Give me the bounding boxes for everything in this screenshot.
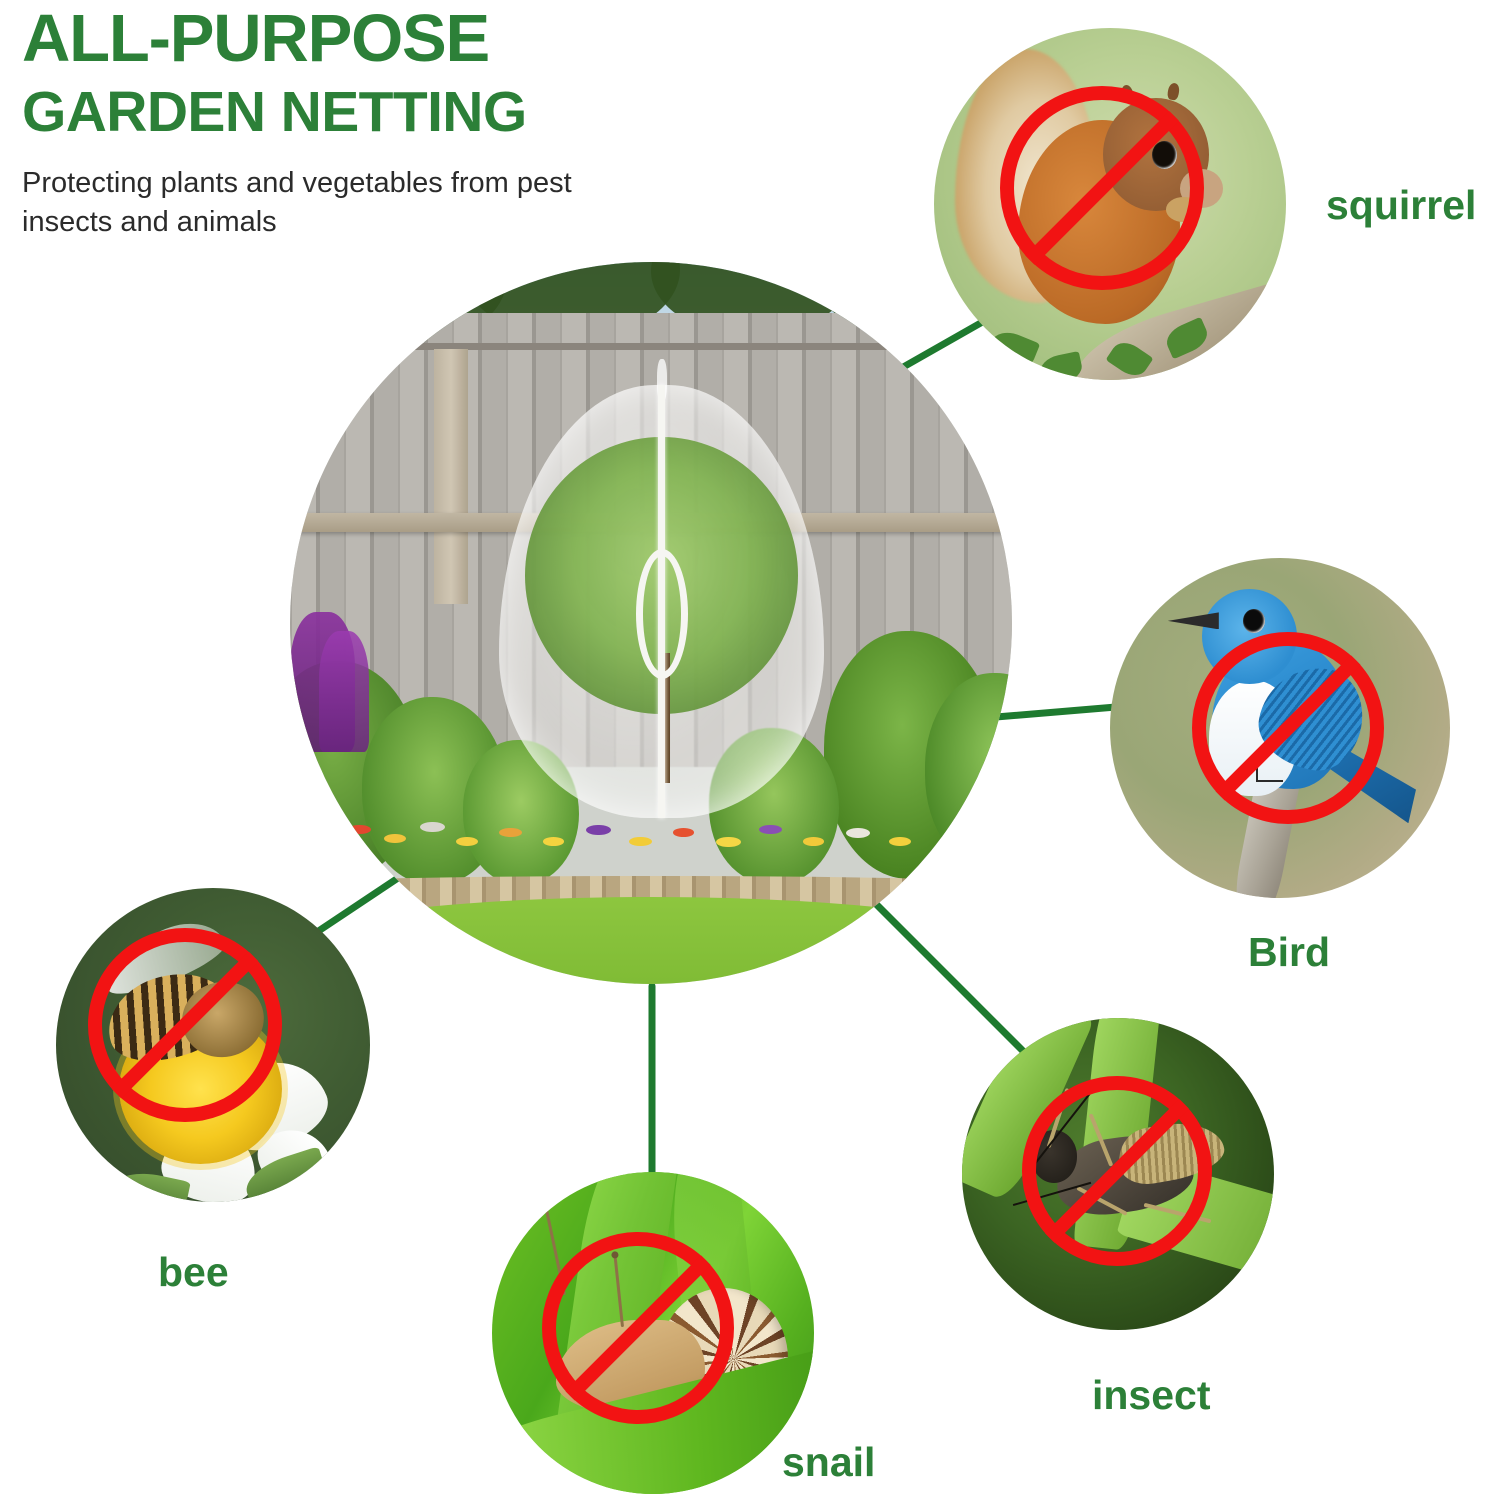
pest-label-squirrel: squirrel (1326, 185, 1476, 226)
main-product-photo (290, 262, 1012, 984)
pest-node-bird[interactable] (1110, 558, 1450, 898)
prohibition-sign-icon (542, 1232, 734, 1424)
prohibition-sign-icon (1000, 86, 1204, 290)
prohibition-sign-icon (1192, 632, 1384, 824)
prohibition-sign-icon (1022, 1076, 1212, 1266)
pest-label-bee: bee (158, 1252, 229, 1293)
infographic-canvas: ALL-PURPOSE GARDEN NETTING Protecting pl… (0, 0, 1492, 1500)
pest-label-bird: Bird (1248, 932, 1330, 973)
pest-label-insect: insect (1092, 1375, 1211, 1416)
bird-eye (1243, 609, 1265, 633)
pest-label-snail: snail (782, 1442, 875, 1483)
pest-node-bee[interactable] (56, 888, 370, 1202)
main-product-node[interactable] (290, 262, 1012, 984)
prohibition-sign-icon (88, 928, 282, 1122)
pest-node-snail[interactable] (492, 1172, 814, 1494)
pest-node-insect[interactable] (962, 1018, 1274, 1330)
lawn (290, 897, 1012, 984)
pest-node-squirrel[interactable] (934, 28, 1286, 380)
